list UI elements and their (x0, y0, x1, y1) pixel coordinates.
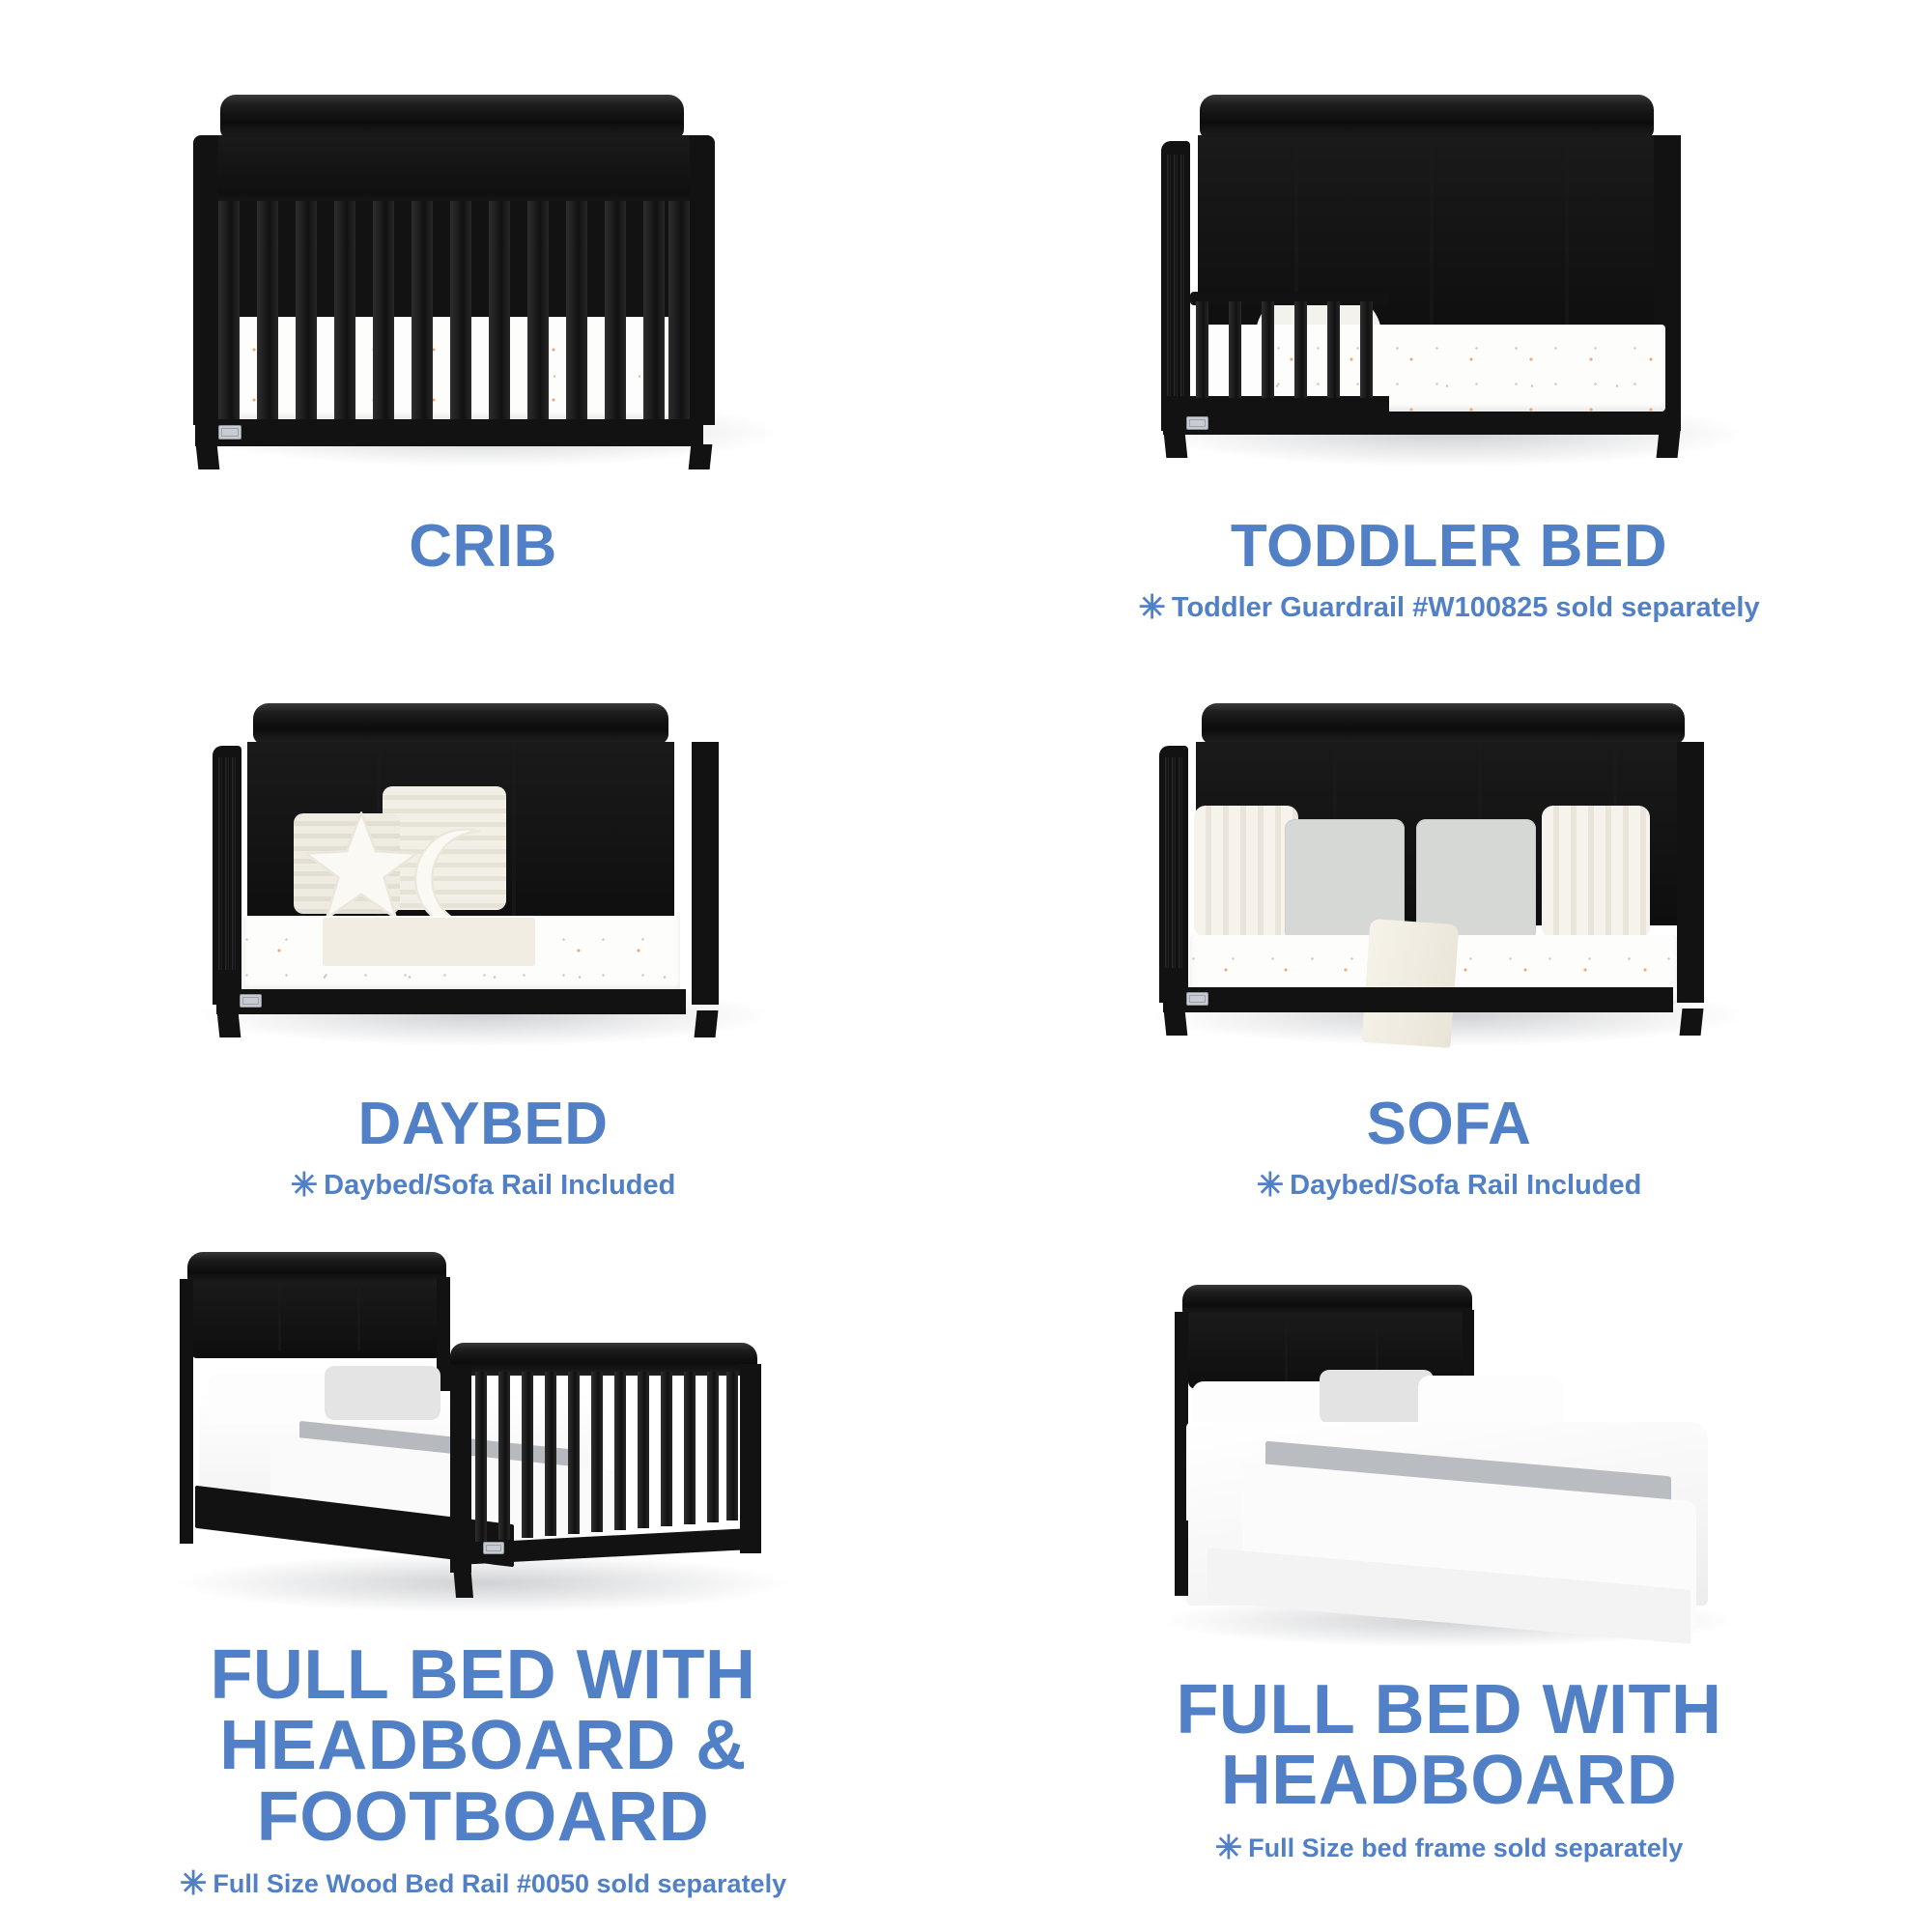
crib-right-post (690, 135, 715, 425)
crib-title: CRIB (58, 516, 908, 577)
daybed-caption: DAYBED ✳Daybed/Sofa Rail Included (58, 1094, 908, 1205)
config-crib: CRIB (58, 39, 908, 618)
sofa-pillow-1 (1194, 806, 1298, 937)
full-bed-h-pillow-grey (1320, 1370, 1434, 1424)
crib-top-rail (220, 95, 684, 139)
sofa-caption: SOFA ✳Daybed/Sofa Rail Included (1024, 1094, 1874, 1205)
sofa-note-text: Daybed/Sofa Rail Included (1290, 1170, 1641, 1201)
full-bed-hf-image (39, 1265, 927, 1617)
asterisk-icon: ✳ (1138, 589, 1166, 626)
config-full-bed-headboard: FULL BED WITH HEADBOARD ✳Full Size bed f… (1005, 1265, 1893, 1903)
toddler-bed-title: TODDLER BED (1024, 516, 1874, 577)
toddler-bed-note: ✳Toddler Guardrail #W100825 sold separat… (1024, 588, 1874, 627)
sofa-leg-left (1164, 1010, 1188, 1036)
infographic-sheet: CRIB (0, 0, 1932, 1932)
sofa-throw-blanket (1362, 919, 1460, 1048)
toddler-leg-right (1657, 431, 1681, 458)
full-bed-hf-caption: FULL BED WITH HEADBOARD & FOOTBOARD ✳Ful… (39, 1640, 927, 1903)
daybed-right-post (692, 742, 719, 1005)
daybed-image (58, 676, 908, 1053)
brand-badge (218, 425, 241, 440)
config-toddler-bed: TODDLER BED ✳Toddler Guardrail #W100825 … (1024, 39, 1874, 638)
full-bed-pillow-2 (325, 1366, 440, 1420)
daybed-note: ✳Daybed/Sofa Rail Included (58, 1166, 908, 1205)
sofa-top-rail (1202, 703, 1685, 744)
full-bed-hf-note-text: Full Size Wood Bed Rail #0050 sold separ… (213, 1869, 786, 1898)
crib-image (58, 39, 908, 473)
daybed-leg-left (217, 1012, 241, 1037)
full-bed-pillow-1 (209, 1374, 344, 1424)
footboard-slats (475, 1372, 738, 1544)
sofa-front-rail (1163, 987, 1673, 1012)
crib-bottom-rail (195, 419, 703, 446)
daybed-top-rail (253, 703, 668, 744)
config-daybed: DAYBED ✳Daybed/Sofa Rail Included (58, 676, 908, 1256)
full-bed-h-caption: FULL BED WITH HEADBOARD ✳Full Size bed f… (1005, 1675, 1893, 1867)
sofa-right-post (1677, 742, 1704, 1003)
toddler-guardrail (1190, 292, 1389, 412)
asterisk-icon: ✳ (1215, 1830, 1243, 1866)
brand-badge (240, 994, 262, 1008)
full-bed-h-title-line2: HEADBOARD (1005, 1746, 1893, 1816)
asterisk-icon: ✳ (1257, 1167, 1285, 1204)
daybed-left-spindles (218, 757, 240, 970)
daybed-title: DAYBED (58, 1094, 908, 1154)
sofa-pillow-4 (1542, 806, 1650, 939)
brand-badge (1186, 416, 1208, 430)
daybed-front-rail (216, 989, 686, 1014)
full-bed-hf-title-line2: HEADBOARD & FOOTBOARD (39, 1711, 927, 1853)
full-bed-far-leg (180, 1474, 193, 1544)
toddler-bed-caption: TODDLER BED ✳Toddler Guardrail #W100825 … (1024, 516, 1874, 627)
config-sofa: SOFA ✳Daybed/Sofa Rail Included (1024, 676, 1874, 1256)
sofa-leg-right (1680, 1009, 1704, 1036)
full-bed-hf-note: ✳Full Size Wood Bed Rail #0050 sold sepa… (39, 1864, 927, 1903)
toddler-bed-image (1024, 39, 1874, 473)
crib-leg-right (689, 444, 713, 469)
crib-headboard-panel (197, 135, 709, 205)
asterisk-icon: ✳ (291, 1167, 319, 1204)
crib-slats (218, 201, 690, 419)
daybed-note-text: Daybed/Sofa Rail Included (324, 1170, 675, 1201)
sofa-title: SOFA (1024, 1094, 1874, 1154)
toddler-left-spindles (1167, 155, 1188, 396)
daybed-cushion (323, 918, 535, 966)
crib-left-post (193, 135, 218, 425)
sofa-image (1024, 676, 1874, 1053)
toddler-leg-left (1164, 433, 1188, 458)
daybed-leg-right (695, 1010, 719, 1037)
asterisk-icon: ✳ (180, 1865, 208, 1902)
full-bed-h-headboard-leg (1175, 1520, 1188, 1596)
toddler-top-rail (1200, 95, 1654, 139)
full-bed-h-title-line1: FULL BED WITH (1005, 1675, 1893, 1746)
sofa-left-spindles (1165, 757, 1186, 968)
full-bed-h-image (1005, 1265, 1893, 1652)
config-full-bed-headboard-footboard: FULL BED WITH HEADBOARD & FOOTBOARD ✳Ful… (39, 1265, 927, 1903)
full-bed-h-note: ✳Full Size bed frame sold separately (1005, 1829, 1893, 1867)
toddler-bed-note-text: Toddler Guardrail #W100825 sold separate… (1172, 592, 1760, 623)
full-bed-hf-title-line1: FULL BED WITH (39, 1640, 927, 1711)
full-bed-h-note-text: Full Size bed frame sold separately (1248, 1833, 1683, 1862)
crib-leg-left (196, 444, 220, 469)
brand-badge (483, 1542, 504, 1554)
toddler-bottom-rail (1163, 412, 1665, 435)
crib-caption: CRIB (58, 516, 908, 577)
sofa-note: ✳Daybed/Sofa Rail Included (1024, 1166, 1874, 1205)
brand-badge (1186, 992, 1208, 1006)
full-bed-footboard (444, 1343, 763, 1604)
